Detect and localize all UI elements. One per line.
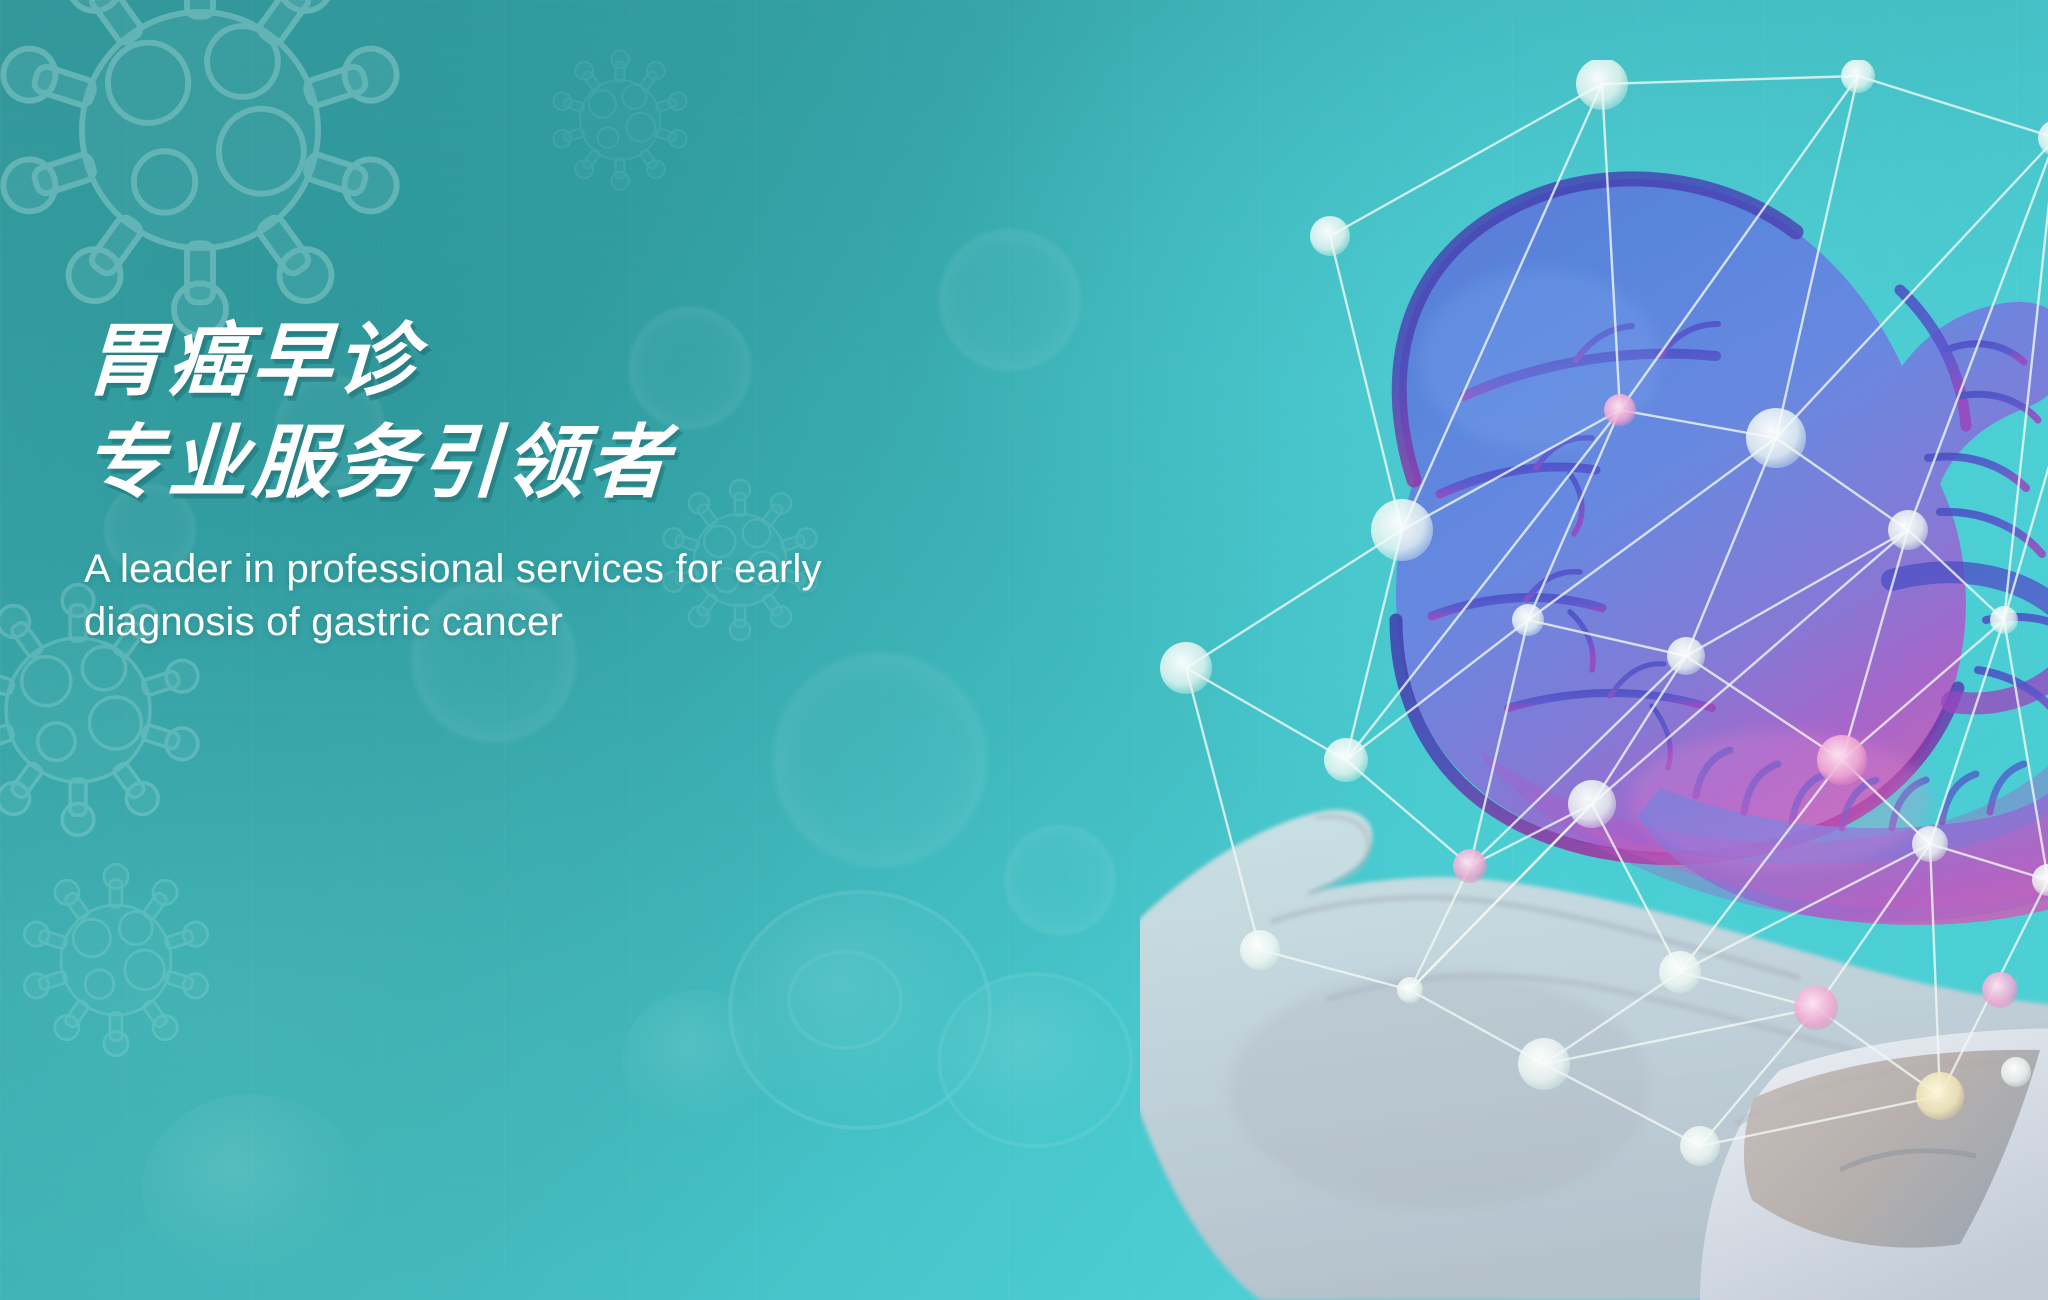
- hero-banner: 胃癌早诊 专业服务引领者 A leader in professional se…: [0, 0, 2048, 1300]
- hero-text-block: 胃癌早诊 专业服务引领者 A leader in professional se…: [84, 320, 984, 649]
- stomach-in-hand-illustration: [1140, 60, 2048, 1300]
- page-subtitle-line1: A leader in professional services for ea…: [84, 543, 984, 596]
- stomach-organ: [1396, 179, 2048, 925]
- page-title-line2: 专业服务引领者: [82, 422, 986, 504]
- page-subtitle: A leader in professional services for ea…: [84, 543, 984, 649]
- page-subtitle-line2: diagnosis of gastric cancer: [84, 596, 984, 649]
- page-title-line1: 胃癌早诊: [82, 320, 986, 402]
